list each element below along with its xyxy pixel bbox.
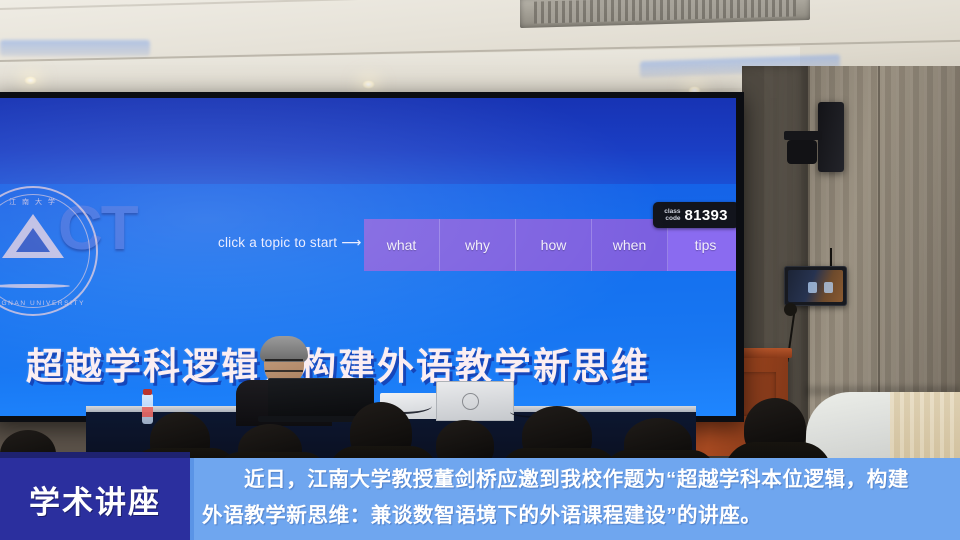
panel-app-icon[interactable] <box>808 282 817 293</box>
topic-tab-what[interactable]: what <box>364 219 440 271</box>
click-topic-hint: click a topic to start⟶ <box>218 234 361 251</box>
seal-ring-text-bottom: JIANGNAN UNIVERSITY <box>0 300 96 307</box>
presenter-glasses-icon <box>265 359 303 372</box>
class-code-label: class code <box>664 208 680 222</box>
class-code-value: 81393 <box>685 207 728 224</box>
projection-screen: CT 江 南 大 学 JIANGNAN UNIVERSITY click a t… <box>0 98 736 416</box>
class-code-label-line2: code <box>664 215 680 222</box>
university-seal-logo: 江 南 大 学 JIANGNAN UNIVERSITY <box>0 186 98 316</box>
ceiling-downlight <box>24 76 37 85</box>
slide-top-band <box>0 98 736 184</box>
camera-mount <box>784 131 822 140</box>
seal-triangle-inner-icon <box>16 228 50 252</box>
class-code-label-line1: class <box>664 208 680 215</box>
arrow-right-icon: ⟶ <box>341 234 361 251</box>
ceiling-seam <box>0 0 960 10</box>
counter-wood-panel <box>890 392 960 466</box>
caption-badge-accent <box>190 458 194 540</box>
class-code-badge: class code 81393 <box>653 202 736 228</box>
caption-badge-label: 学术讲座 <box>0 458 190 540</box>
caption-line-1: 近日，江南大学教授董剑桥应邀到我校作题为“超越学科本位逻辑，构建 <box>202 462 950 498</box>
panel-app-icon[interactable] <box>824 282 833 293</box>
ceiling-blue-reflection <box>0 40 150 56</box>
water-bottle-cap <box>143 389 152 395</box>
ptz-camera <box>787 140 817 164</box>
click-topic-hint-label: click a topic to start <box>218 235 337 250</box>
water-bottle-label <box>142 407 153 417</box>
control-panel-screen[interactable] <box>788 270 843 302</box>
caption-text: 近日，江南大学教授董剑桥应邀到我校作题为“超越学科本位逻辑，构建 外语教学新思维… <box>202 462 950 538</box>
ceiling-downlight <box>362 80 375 89</box>
topic-tab-why[interactable]: why <box>440 219 516 271</box>
caption-line-2: 外语教学新思维：兼谈数智语境下的外语课程建设”的讲座。 <box>202 498 950 534</box>
wall-control-panel[interactable] <box>784 266 847 306</box>
hp-logo-icon <box>462 393 479 410</box>
screenshot-root: CT 江 南 大 学 JIANGNAN UNIVERSITY click a t… <box>0 0 960 540</box>
seal-ring-text-top: 江 南 大 学 <box>0 197 96 207</box>
air-conditioner-vent <box>520 0 810 28</box>
topic-tab-how[interactable]: how <box>516 219 592 271</box>
microphone-icon <box>784 303 797 316</box>
